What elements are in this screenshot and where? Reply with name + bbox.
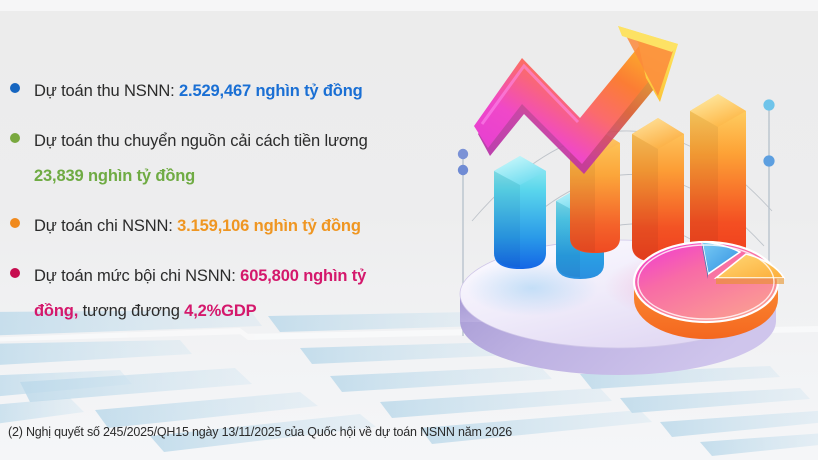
bullet-text-4: Dự toán mức bội chi NSNN: 605,800 nghìn … <box>34 261 452 292</box>
bullet-list: Dự toán thu NSNN: 2.529,467 nghìn tỷ đồn… <box>0 76 452 327</box>
bullet-label-1: Dự toán thu NSNN: <box>34 82 179 100</box>
bullet-mid-4: tương đương <box>78 302 184 320</box>
bullet-label-2: Dự toán thu chuyển nguồn cải cách tiền l… <box>34 132 368 150</box>
bullet-dot-crimson <box>10 268 20 278</box>
list-item: Dự toán thu chuyển nguồn cải cách tiền l… <box>0 126 452 192</box>
bullet-dot-green <box>10 133 20 143</box>
accent-dot-right-lower <box>763 155 774 166</box>
bullet-text-1: Dự toán thu NSNN: 2.529,467 nghìn tỷ đồn… <box>34 76 452 107</box>
footnote: (2) Nghị quyết số 245/2025/QH15 ngày 13/… <box>8 425 512 439</box>
bullet-value-4c: 4,2%GDP <box>184 302 256 320</box>
bullet-value-1: 2.529,467 nghìn tỷ đồng <box>179 82 363 100</box>
pie-chart <box>634 242 784 339</box>
list-item: Dự toán chi NSNN: 3.159,106 nghìn tỷ đồn… <box>0 211 452 242</box>
bullet-value-3: 3.159,106 nghìn tỷ đồng <box>177 217 361 235</box>
bullet-label-3: Dự toán chi NSNN: <box>34 217 177 235</box>
slide-canvas: Dự toán thu NSNN: 2.529,467 nghìn tỷ đồn… <box>0 0 818 460</box>
list-item: Dự toán mức bội chi NSNN: 605,800 nghìn … <box>0 261 452 327</box>
bar-cyan-1 <box>494 156 546 269</box>
bullet-dot-orange <box>10 218 20 228</box>
bullet-value-2: 23,839 nghìn tỷ đồng <box>34 167 195 185</box>
bullet-text-3: Dự toán chi NSNN: 3.159,106 nghìn tỷ đồn… <box>34 211 452 242</box>
accent-dot-left-upper <box>458 149 468 159</box>
bullet-label-4: Dự toán mức bội chi NSNN: <box>34 267 240 285</box>
bullet-value-4: 605,800 nghìn tỷ <box>240 267 366 285</box>
bar-orange-2 <box>632 118 684 262</box>
accent-dot-right-upper <box>763 99 774 110</box>
list-item: Dự toán thu NSNN: 2.529,467 nghìn tỷ đồn… <box>0 76 452 107</box>
bullet-text-2-cont: 23,839 nghìn tỷ đồng <box>34 161 452 192</box>
accent-dot-left-lower <box>458 165 468 175</box>
3d-statistics-illustration <box>432 6 818 416</box>
bullet-value-4b: đồng, <box>34 302 78 320</box>
bullet-text-4-cont: đồng, tương đương 4,2%GDP <box>34 296 452 327</box>
bullet-text-2: Dự toán thu chuyển nguồn cải cách tiền l… <box>34 126 452 157</box>
bullet-dot-blue <box>10 83 20 93</box>
